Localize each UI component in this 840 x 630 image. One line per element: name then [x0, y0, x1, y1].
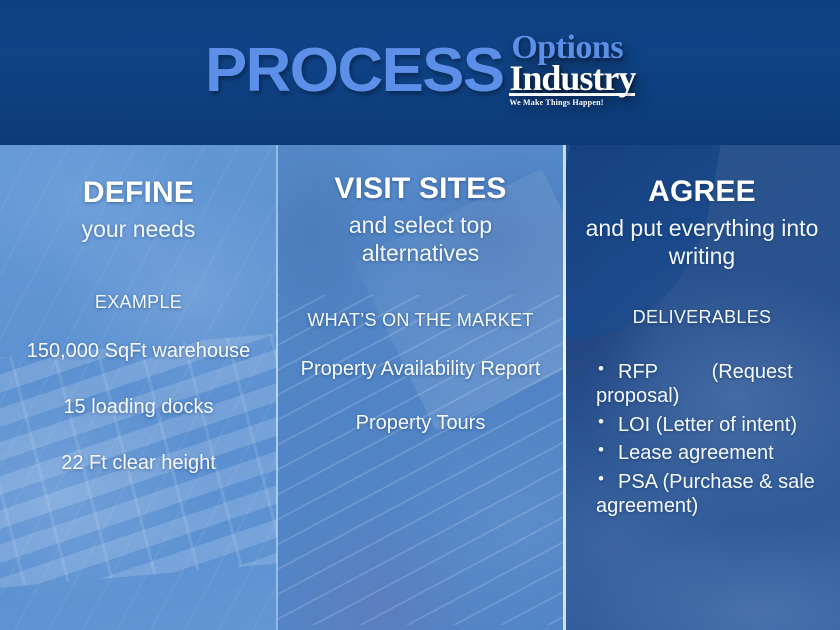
logo-tagline: We Make Things Happen! [509, 98, 635, 107]
slide-header: PROCESS Options Industry We Make Things … [0, 0, 840, 145]
process-columns: DEFINE your needs EXAMPLE 150,000 SqFt w… [0, 145, 840, 630]
process-step-agree: AGREE and put everything into writing DE… [564, 145, 840, 630]
column-divider-2 [563, 145, 566, 630]
bullet-text-psa-line1: PSA (Purchase & sale [618, 470, 830, 494]
bullet-text-rfp-line1: RFP (Request for [618, 360, 840, 384]
process-step-visit-sites: VISIT SITES and select top alternatives … [277, 145, 564, 630]
list-item: 15 loading docks [10, 395, 267, 419]
list-item: 22 Ft clear height [10, 451, 267, 475]
step-label-example: EXAMPLE [10, 291, 267, 314]
column-divider-1 [276, 145, 278, 630]
step-title-define: DEFINE [10, 177, 267, 209]
step-title-visit-sites: VISIT SITES [287, 173, 554, 205]
step-label-whats-on-the-market: WHAT’S ON THE MARKET [287, 309, 554, 332]
step-subtitle-visit-sites: and select top alternatives [287, 211, 554, 267]
list-item: Property Availability Report [287, 357, 554, 381]
step-title-agree: AGREE [574, 176, 830, 208]
process-step-define: DEFINE your needs EXAMPLE 150,000 SqFt w… [0, 145, 277, 630]
bullet-text-rfp-line2: proposal) [596, 384, 830, 408]
list-item: Lease agreement [596, 441, 830, 465]
visit-sites-item-list: Property Availability Report Property To… [287, 357, 554, 435]
list-item: 150,000 SqFt warehouse [10, 339, 267, 363]
define-item-list: 150,000 SqFt warehouse 15 loading docks … [10, 339, 267, 475]
step-label-deliverables: DELIVERABLES [574, 306, 830, 329]
list-item: PSA (Purchase & sale agreement) [596, 470, 830, 519]
logo-word-industry: Industry [509, 61, 635, 95]
step-subtitle-define: your needs [10, 215, 267, 243]
page-title: PROCESS [205, 26, 504, 102]
deliverables-bullet-list: RFP (Request for proposal) LOI (Letter o… [574, 360, 830, 518]
list-item: Property Tours [287, 411, 554, 435]
list-item: RFP (Request for proposal) [596, 360, 830, 409]
bullet-text-psa-line2: agreement) [596, 494, 830, 518]
slide-canvas: PROCESS Options Industry We Make Things … [0, 0, 840, 630]
options-industry-logo: Options Industry We Make Things Happen! [509, 26, 635, 106]
step-subtitle-agree: and put everything into writing [574, 214, 830, 270]
list-item: LOI (Letter of intent) [596, 413, 830, 437]
